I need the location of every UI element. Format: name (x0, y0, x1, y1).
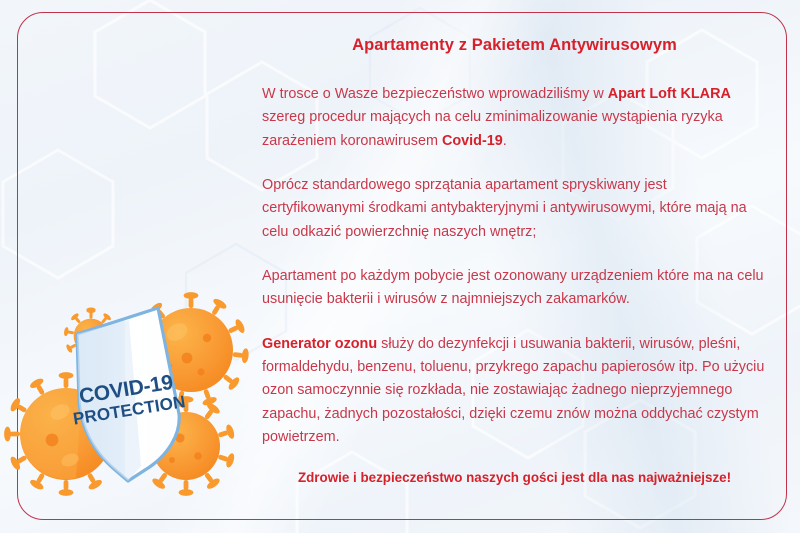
poster-footer: Zdrowie i bezpieczeństwo naszych gości j… (262, 470, 767, 485)
paragraph-ozone-generator: Generator ozonu służy do dezynfekcji i u… (262, 333, 767, 450)
body-text: Apartament po każdym pobycie jest ozonow… (262, 268, 764, 307)
paragraph-list: W trosce o Wasze bezpieczeństwo wprowadz… (262, 83, 767, 449)
covid-shield-illustration: COVID-19 PROTECTION (8, 288, 270, 513)
emphasis-text: Generator ozonu (262, 336, 377, 352)
body-text: Oprócz standardowego sprzątania apartame… (262, 177, 747, 240)
body-text: W trosce o Wasze bezpieczeństwo wprowadz… (262, 86, 608, 102)
poster-canvas: COVID-19 PROTECTION Apartamenty z Pakiet… (0, 0, 800, 533)
paragraph-intro: W trosce o Wasze bezpieczeństwo wprowadz… (262, 83, 767, 153)
emphasis-text: Apart Loft KLARA (608, 86, 731, 102)
page-title: Apartamenty z Pakietem Antywirusowym (262, 36, 767, 55)
emphasis-text: Covid-19 (442, 133, 503, 149)
paragraph-ozonation: Apartament po każdym pobycie jest ozonow… (262, 265, 767, 312)
paragraph-cleaning: Oprócz standardowego sprzątania apartame… (262, 174, 767, 244)
body-text: . (503, 133, 507, 149)
poster-content: Apartamenty z Pakietem Antywirusowym W t… (262, 36, 767, 449)
body-text: służy do dezynfekcji i usuwania bakterii… (262, 336, 764, 445)
